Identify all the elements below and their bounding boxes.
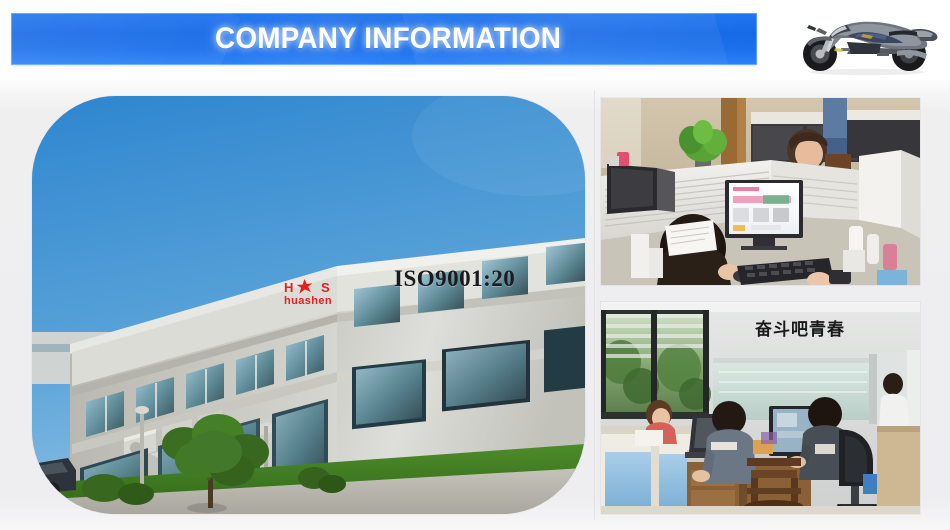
sport-motorcycle-icon [785,4,948,76]
page-header: COMPANY INFORMATION [0,0,950,80]
company-factory-building-photo: H S huashen ISO9001:20 [32,96,585,514]
office-workstations-photo [601,98,920,285]
wall-calligraphy-chars: 奋斗吧青春 [755,320,845,340]
panel-divider [594,90,595,520]
building-brand-logo: H S huashen [284,281,342,307]
company-information-banner: COMPANY INFORMATION [11,13,757,65]
wall-calligraphy-text: 奋斗吧青春 [755,322,845,339]
motorcycle-image [785,4,948,76]
company-information-panel: H S huashen ISO9001:20 [0,80,950,530]
page-title: COMPANY INFORMATION [11,24,757,54]
brand-name: huashen [284,296,342,307]
office-team-photo: 奋斗吧青春 [601,302,920,514]
office-workstations-graphic [601,98,920,285]
page-title-text: COMPANY INFORMATION [215,24,561,54]
red-star-icon [296,279,313,294]
iso-certification-text: ISO9001:20 [394,267,515,290]
